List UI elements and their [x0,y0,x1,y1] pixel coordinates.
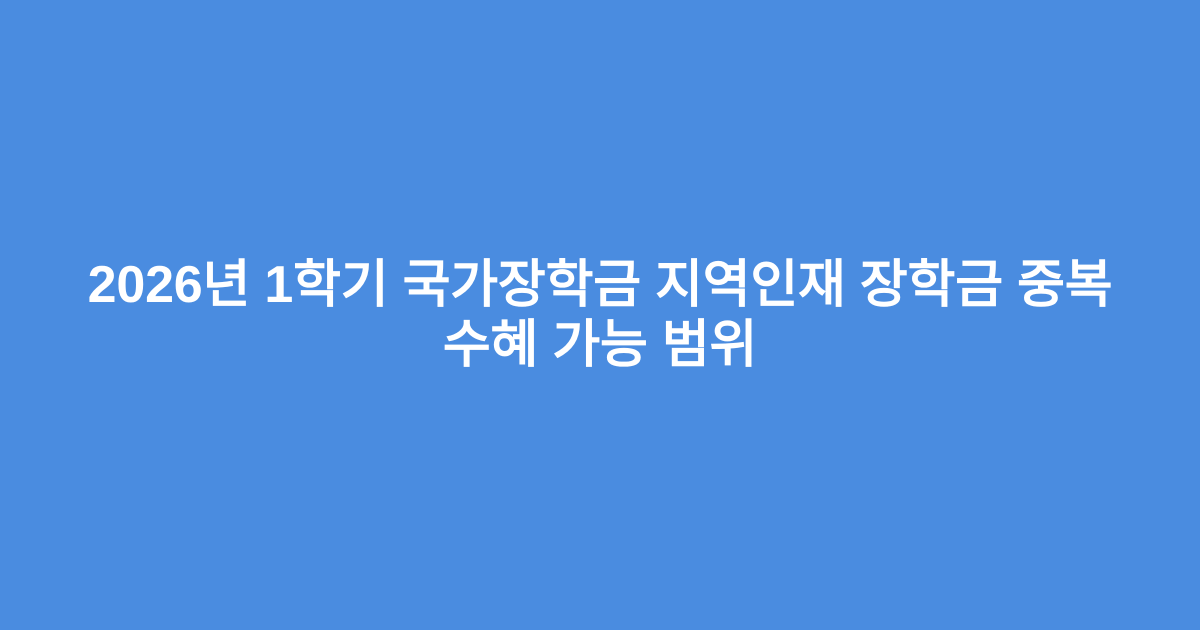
page-title: 2026년 1학기 국가장학금 지역인재 장학금 중복 수혜 가능 범위 [85,255,1115,375]
thumbnail-card: 2026년 1학기 국가장학금 지역인재 장학금 중복 수혜 가능 범위 [0,0,1200,630]
title-block: 2026년 1학기 국가장학금 지역인재 장학금 중복 수혜 가능 범위 [85,255,1115,375]
